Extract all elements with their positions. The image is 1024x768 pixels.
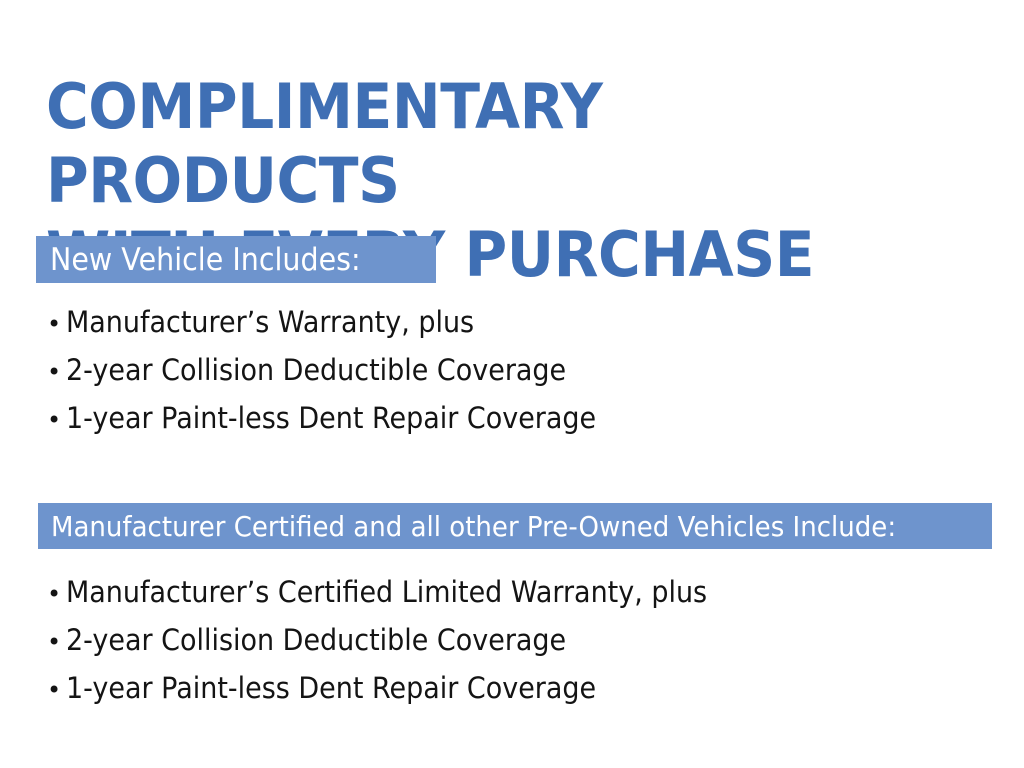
bullet-dot-icon: • (47, 300, 66, 348)
list-item-label: 1-year Paint-less Dent Repair Coverage (66, 394, 596, 442)
section-header-pre-owned: Manufacturer Certified and all other Pre… (38, 503, 992, 549)
section-header-new-vehicle-label: New Vehicle Includes: (50, 242, 361, 278)
bullet-dot-icon: • (47, 348, 66, 396)
list-item: • 2-year Collision Deductible Coverage (47, 616, 755, 664)
section-header-new-vehicle: New Vehicle Includes: (36, 236, 436, 283)
list-item: • 1-year Paint-less Dent Repair Coverage (47, 664, 755, 712)
bullet-dot-icon: • (47, 570, 66, 618)
list-item-label: Manufacturer’s Warranty, plus (66, 298, 474, 346)
benefits-list-pre-owned: • Manufacturer’s Certified Limited Warra… (47, 568, 755, 712)
list-item-label: 1-year Paint-less Dent Repair Coverage (66, 664, 596, 712)
slide-canvas: COMPLIMENTARY PRODUCTS WITH EVERY PURCHA… (0, 0, 1024, 768)
benefits-list-new-vehicle: • Manufacturer’s Warranty, plus • 2-year… (47, 298, 636, 442)
list-item-label: Manufacturer’s Certified Limited Warrant… (66, 568, 707, 616)
list-item: • 2-year Collision Deductible Coverage (47, 346, 636, 394)
list-item-label: 2-year Collision Deductible Coverage (66, 616, 566, 664)
list-item: • 1-year Paint-less Dent Repair Coverage (47, 394, 636, 442)
bullet-dot-icon: • (47, 666, 66, 714)
section-header-pre-owned-label: Manufacturer Certified and all other Pre… (51, 510, 896, 543)
list-item: • Manufacturer’s Warranty, plus (47, 298, 636, 346)
bullet-dot-icon: • (47, 396, 66, 444)
list-item-label: 2-year Collision Deductible Coverage (66, 346, 566, 394)
list-item: • Manufacturer’s Certified Limited Warra… (47, 568, 755, 616)
bullet-dot-icon: • (47, 618, 66, 666)
